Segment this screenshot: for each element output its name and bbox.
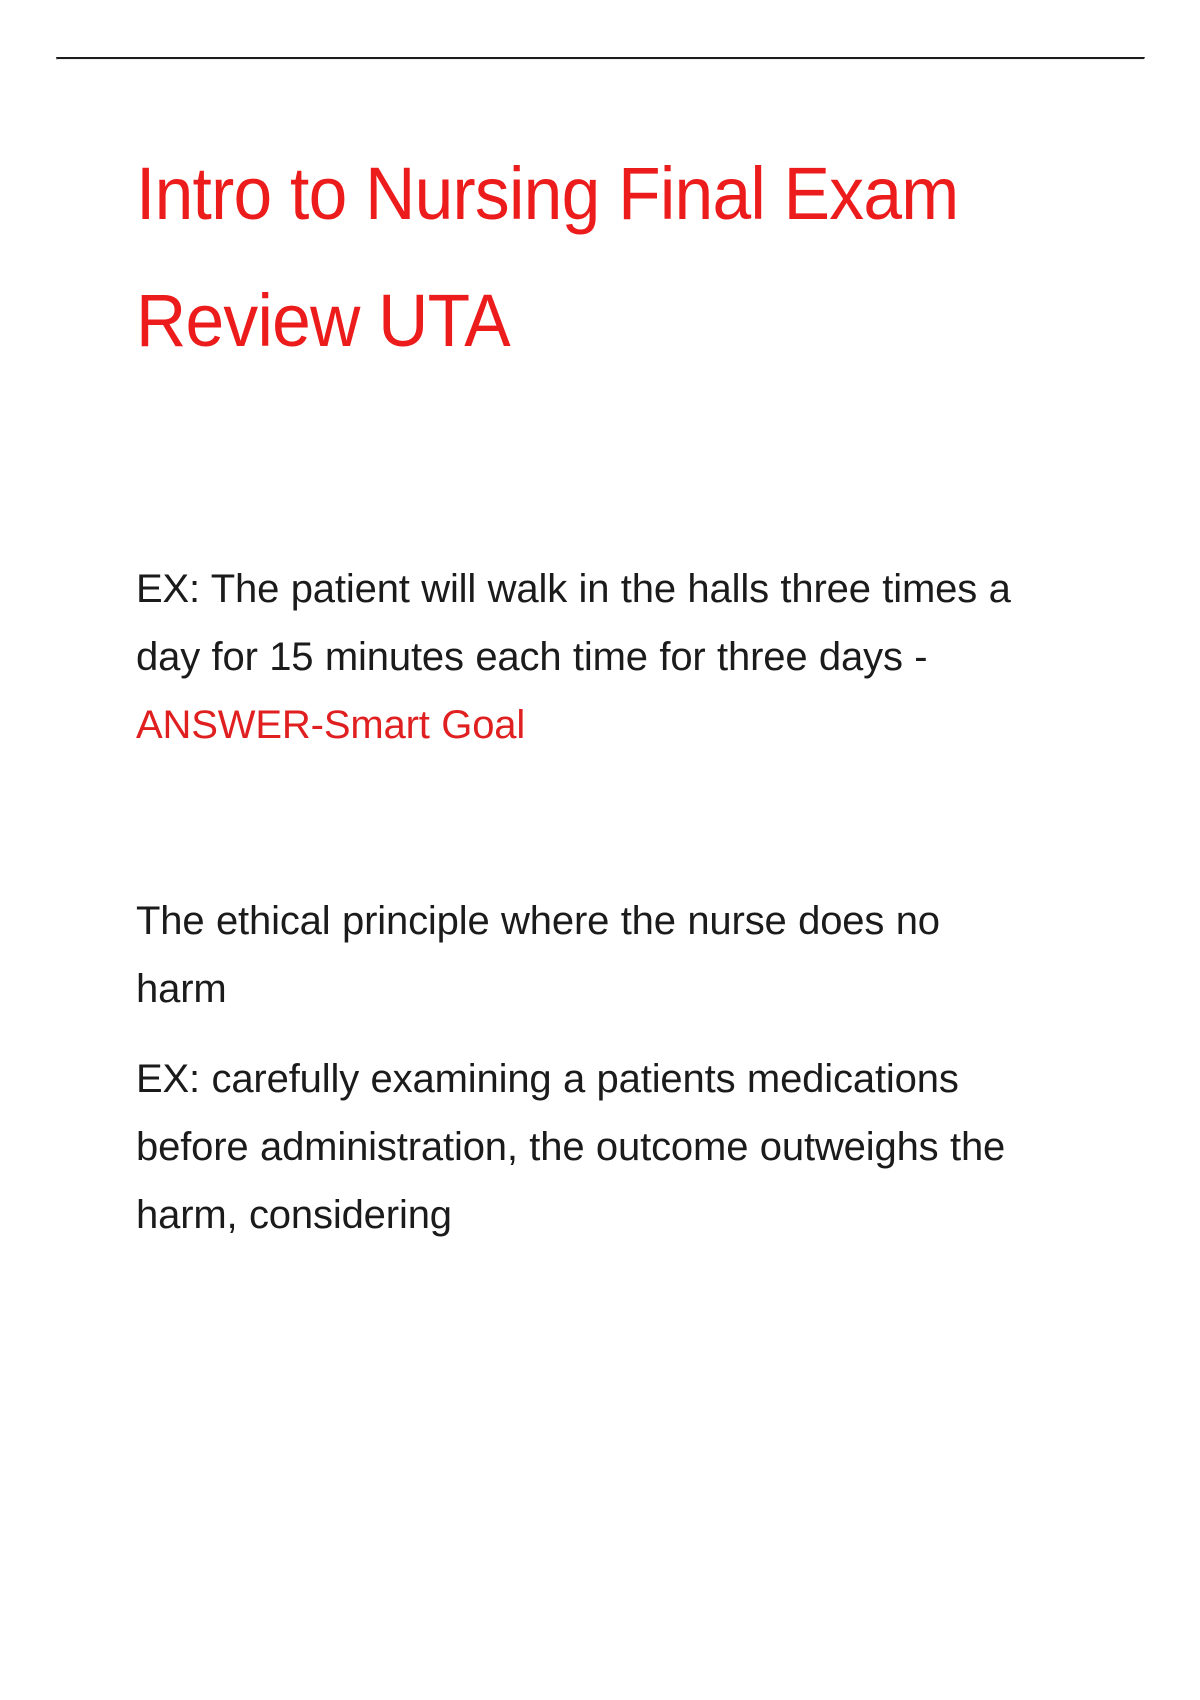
question-1-block: EX: The patient will walk in the halls t…	[136, 555, 1016, 759]
question-2-block: The ethical principle where the nurse do…	[136, 887, 1016, 1023]
title-body-spacer	[136, 385, 1016, 555]
document-content: Intro to Nursing Final Exam Review UTA E…	[136, 130, 1016, 1249]
document-page: Intro to Nursing Final Exam Review UTA E…	[0, 0, 1200, 1700]
header-rule	[56, 57, 1145, 60]
block-2-3-spacer	[136, 1023, 1016, 1045]
question-1-answer: ANSWER-Smart Goal	[136, 703, 525, 747]
question-1-prompt: EX: The patient will walk in the halls t…	[136, 567, 1011, 679]
question-2-example-block: EX: carefully examining a patients medic…	[136, 1045, 1016, 1249]
block-1-2-spacer	[136, 759, 1016, 887]
page-title: Intro to Nursing Final Exam Review UTA	[136, 130, 963, 385]
